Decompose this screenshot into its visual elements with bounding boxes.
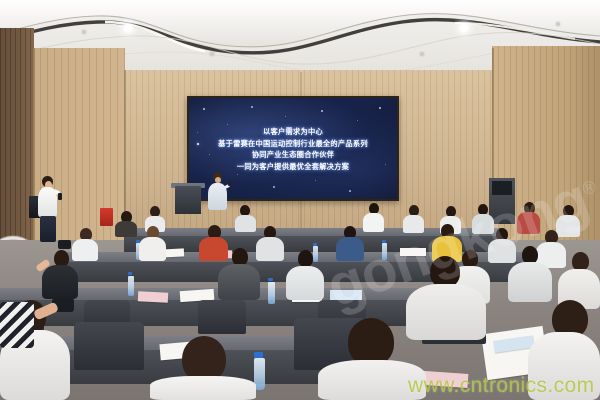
- lectern: [175, 186, 201, 214]
- water-bottle: [382, 243, 387, 260]
- ceiling-speaker-5: [556, 22, 560, 26]
- ceiling-light-right: [460, 24, 468, 32]
- water-bottle: [268, 282, 275, 304]
- slide-line-2: 基于雷赛在中国运动控制行业最全的产品系列: [189, 138, 397, 150]
- phone-icon: [58, 240, 71, 249]
- water-bottle: [313, 246, 318, 262]
- water-bottle-cap: [128, 272, 132, 275]
- ceiling-light-left: [124, 24, 132, 32]
- water-bottle: [128, 276, 134, 296]
- slide-line-4: 一同为客户提供最优全套解决方案: [189, 161, 397, 173]
- chair: [198, 300, 246, 334]
- ceiling-speaker-1: [82, 30, 86, 34]
- handout-paper: [138, 291, 168, 303]
- conference-room-photo: 以客户需求为中心 基于雷赛在中国运动控制行业最全的产品系列 协同产业生态圈合作伙…: [0, 0, 600, 400]
- water-bottle-cap: [268, 278, 273, 281]
- microphone-icon: [228, 180, 231, 186]
- handout-paper: [400, 248, 426, 256]
- red-promotional-box: [100, 208, 113, 226]
- slide-text-block: 以客户需求为中心 基于雷赛在中国运动控制行业最全的产品系列 协同产业生态圈合作伙…: [189, 126, 397, 172]
- slide-line-1: 以客户需求为中心: [189, 126, 397, 138]
- slide-line-3: 协同产业生态圈合作伙伴: [189, 149, 397, 161]
- presenter-device: [58, 193, 62, 200]
- water-bottle-cap: [254, 352, 263, 358]
- chair: [74, 322, 144, 370]
- av-cabinet-screen: [492, 181, 512, 195]
- ceiling-speaker-4: [420, 52, 424, 56]
- water-bottle-cap: [382, 240, 386, 243]
- striped-sleeve: [0, 302, 34, 348]
- ceiling-speaker-3: [210, 52, 214, 56]
- watermark-url: www.cntronics.com: [408, 374, 595, 398]
- water-bottle-cap: [313, 243, 317, 246]
- handout-paper: [330, 290, 362, 300]
